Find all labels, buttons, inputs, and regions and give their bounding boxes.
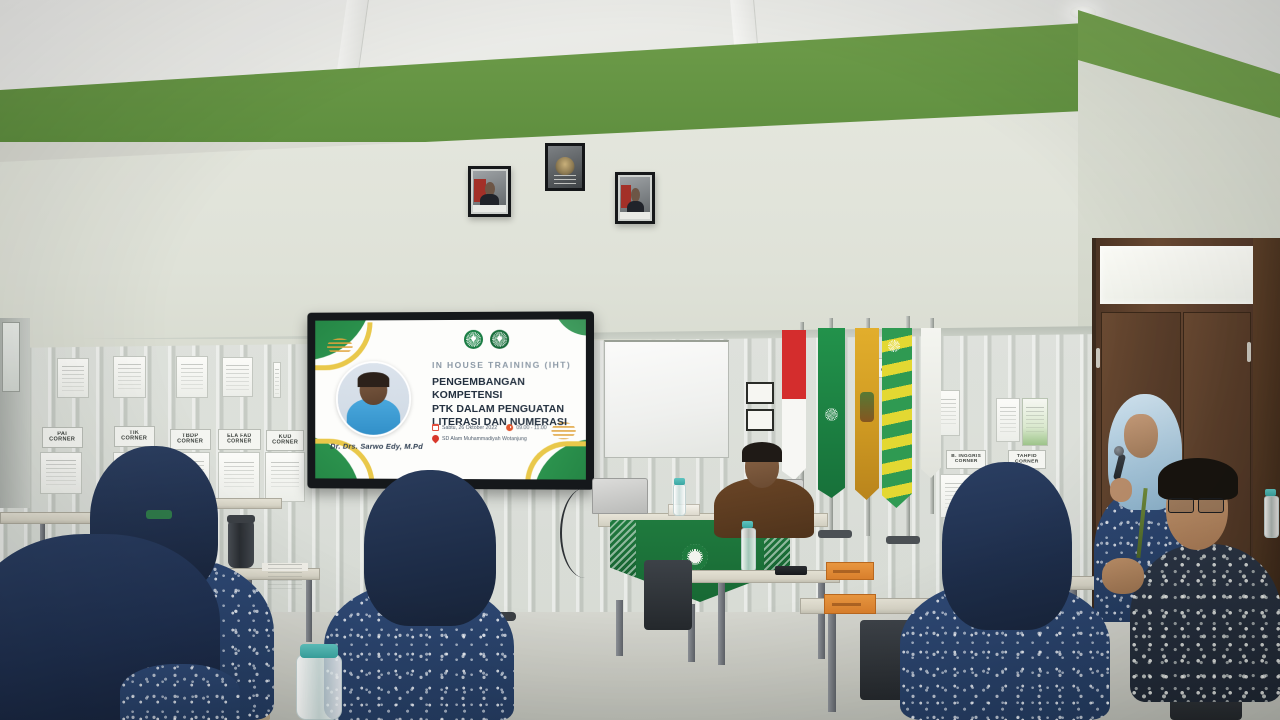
speaker-name: Dr. Drs. Sarwo Edy, M.Pd: [325, 442, 428, 451]
door-handle[interactable]: [1096, 348, 1100, 368]
gray-batik-shirt: [1130, 544, 1280, 702]
white-flag: [921, 328, 941, 478]
garuda-pancasila-emblem: [545, 143, 585, 191]
sun-rays-icon: [466, 332, 481, 347]
audience-member-right: [900, 462, 1110, 720]
map-pin-icon: [431, 434, 441, 444]
door-transom-window: [1100, 246, 1272, 304]
slide-logos: [464, 330, 509, 349]
corner-label-kud: KUD CORNER: [266, 430, 304, 451]
garuda-text-lines: [554, 175, 576, 183]
clock-icon: [506, 424, 513, 431]
framed-certificate-top: [746, 382, 774, 404]
corner-label-line2: CORNER: [272, 441, 298, 447]
microphone-head: [1114, 446, 1124, 456]
portrait-caption: [473, 205, 506, 212]
wall-paper: [222, 357, 253, 397]
wall-poster-green: [1022, 398, 1048, 446]
audience-member-left-front: [0, 534, 220, 720]
photo-hair: [358, 372, 389, 386]
corner-label-line2: CORNER: [121, 437, 147, 443]
slide-title-line2: PTK DALAM PENGUATAN: [432, 403, 585, 417]
tv-screen: Dr. Drs. Sarwo Edy, M.Pd IN HOUSE TRAINI…: [315, 319, 586, 479]
aisyiyah-logo: [490, 330, 509, 349]
whiteboard: [604, 340, 729, 458]
middle-desk: [690, 570, 840, 583]
eyeglasses: [1198, 498, 1224, 513]
wall-paper: [265, 452, 305, 502]
vice-president-portrait: [615, 172, 655, 224]
presentation-slide: Dr. Drs. Sarwo Edy, M.Pd IN HOUSE TRAINI…: [315, 319, 586, 479]
left-window-glass: [2, 322, 20, 392]
laptop-left[interactable]: [592, 478, 648, 514]
corner-label-line1: ELA FAD: [227, 433, 251, 439]
speaker-photo: [336, 361, 411, 437]
water-bottle-foreground[interactable]: [296, 654, 342, 720]
slide-meta-location: SD Alam Muhammadiyah Wotanjung: [432, 435, 585, 442]
presenter-hair: [742, 442, 782, 462]
slide-meta: Sabtu, 26 Oktober 2022 09.00 - 11.00 SD …: [432, 424, 585, 446]
wall-paper: [996, 398, 1020, 442]
sun-rays-icon: [492, 332, 507, 347]
snack-box[interactable]: [824, 594, 876, 614]
hijab-pin: [146, 510, 172, 519]
gold-flag-emblem: [860, 392, 874, 422]
slide-date: Sabtu, 26 Oktober 2022: [442, 424, 497, 430]
portrait-caption: [620, 212, 650, 219]
snack-box[interactable]: [826, 562, 874, 580]
navy-hijab: [942, 462, 1072, 630]
water-bottle[interactable]: [741, 528, 756, 572]
slide-location: SD Alam Muhammadiyah Wotanjung: [442, 435, 527, 441]
corner-label-tik: TIK CORNER: [114, 426, 155, 447]
slide-decor-top-right: [553, 319, 585, 335]
corner-label-line2: CORNER: [49, 438, 75, 444]
chair[interactable]: [644, 560, 692, 630]
audience-member-center-front: [380, 512, 630, 720]
portrait-image: [473, 171, 506, 212]
wall-paper: [273, 362, 281, 398]
bottle-cap: [742, 521, 753, 528]
slide-title: PENGEMBANGAN KOMPETENSI PTK DALAM PENGUA…: [432, 376, 585, 430]
bottle-cap: [674, 478, 685, 485]
wall-paper: [113, 356, 146, 398]
classroom-photo: PAI CORNER TIK CORNER TBDP CORNER ELA FA…: [0, 0, 1280, 720]
wall-paper: [176, 356, 208, 398]
framed-certificate-bottom: [746, 409, 774, 431]
eyeglasses: [1168, 498, 1194, 513]
portrait-image: [620, 177, 650, 219]
slide-decor-stripes-left: [327, 338, 353, 354]
water-bottle[interactable]: [673, 484, 686, 516]
navy-hijab: [380, 512, 630, 720]
desk-leg: [828, 614, 836, 712]
muhammadiyah-logo: [464, 330, 483, 349]
striped-flag-emblem: [888, 340, 900, 352]
smartphone[interactable]: [775, 566, 807, 575]
muhammadiyah-flag-emblem: [825, 408, 838, 421]
corner-label-line2: CORNER: [227, 439, 252, 445]
president-portrait: [468, 166, 511, 217]
seated-man-with-glasses: [1136, 452, 1280, 702]
seated-presenter: [712, 436, 816, 528]
slide-decor-arc-bottom-right: [525, 441, 586, 479]
participant-hand: [1110, 478, 1132, 502]
presentation-tv[interactable]: Dr. Drs. Sarwo Edy, M.Pd IN HOUSE TRAINI…: [307, 311, 594, 489]
man-hair: [1158, 458, 1238, 500]
bottle-cap: [300, 644, 338, 658]
desk-leg: [306, 580, 312, 642]
garuda-icon: [555, 157, 574, 175]
slide-kicker: IN HOUSE TRAINING (IHT): [432, 360, 583, 370]
corner-label-pai: PAI CORNER: [42, 427, 83, 448]
slide-title-line1: PENGEMBANGAN KOMPETENSI: [432, 376, 585, 403]
corner-label-line2: CORNER: [177, 440, 203, 446]
door-handle[interactable]: [1247, 342, 1251, 362]
slide-meta-datetime: Sabtu, 26 Oktober 2022 09.00 - 11.00: [432, 424, 585, 431]
slide-time: 09.00 - 11.00: [516, 425, 546, 431]
audience-uniform: [120, 664, 240, 720]
flag-stand: [818, 530, 852, 538]
desk-leg: [718, 583, 725, 665]
calendar-icon: [432, 424, 439, 431]
wall-paper: [57, 358, 89, 398]
